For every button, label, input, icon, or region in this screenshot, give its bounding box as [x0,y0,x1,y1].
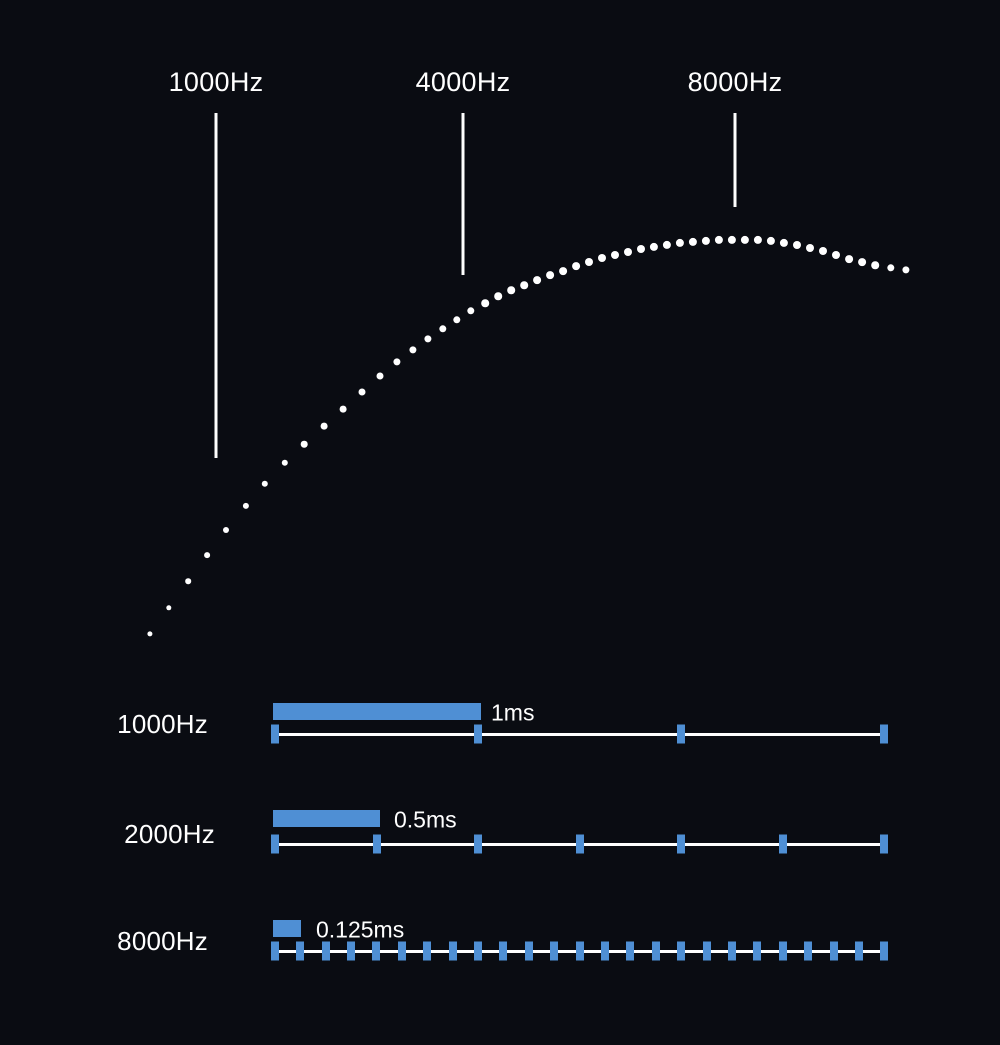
curve-dot [650,243,658,251]
frequency-marker-tick [462,113,465,275]
period-timeline-tick [271,725,279,744]
curve-dot [754,236,762,244]
period-timeline-tick [423,942,431,961]
period-duration-label: 1ms [491,702,534,725]
curve-dot [676,239,684,247]
curve-dot [481,299,489,307]
curve-dot [301,441,308,448]
curve-dot [689,238,697,246]
curve-dot [282,460,288,466]
diagram-canvas: 1000Hz4000Hz8000Hz 1000Hz1ms2000Hz0.5ms8… [0,0,1000,1045]
curve-dot [185,578,191,584]
period-timeline-tick [398,942,406,961]
curve-dot [439,325,446,332]
period-timeline-tick [677,725,685,744]
curve-dot [572,262,580,270]
curve-dot [393,358,400,365]
curve-dot [467,307,474,314]
period-timeline-tick [296,942,304,961]
curve-dot [728,236,736,244]
period-timeline-tick [373,835,381,854]
period-timeline-tick [474,725,482,744]
period-timeline-tick [880,725,888,744]
frequency-marker-label: 4000Hz [416,69,511,96]
period-timeline-tick [550,942,558,961]
period-timeline-tick [677,942,685,961]
period-timeline-tick [728,942,736,961]
curve-dot [585,258,593,266]
period-timeline-tick [601,942,609,961]
period-timeline-tick [474,942,482,961]
period-timeline-tick [576,835,584,854]
period-timeline-tick [576,942,584,961]
curve-dot [262,481,268,487]
curve-dot [340,406,347,413]
period-timeline-tick [703,942,711,961]
curve-dot [871,261,879,269]
curve-dot [424,335,431,342]
period-timeline-tick [804,942,812,961]
curve-dot [507,286,515,294]
period-timeline-tick [830,942,838,961]
curve-dot [559,267,567,275]
period-timeline-tick [652,942,660,961]
curve-dot [806,244,814,252]
period-duration-bar [273,920,301,937]
curve-dot [637,245,645,253]
curve-dot [793,241,801,249]
frequency-marker-tick [215,113,218,458]
curve-dot [321,423,328,430]
curve-dot [845,255,853,263]
curve-dot [223,527,229,533]
curve-dot [166,605,171,610]
period-timeline-tick [677,835,685,854]
period-timeline-tick [271,942,279,961]
period-timeline-tick [880,942,888,961]
curve-dot [741,236,749,244]
frequency-marker-label: 8000Hz [688,69,783,96]
curve-dot [409,346,416,353]
curve-dot [147,631,152,636]
period-timeline-tick [753,942,761,961]
period-row-frequency-label: 2000Hz [124,821,215,847]
period-timeline-tick [449,942,457,961]
frequency-marker-label: 1000Hz [169,69,264,96]
curve-dot [767,237,775,245]
curve-dot [887,264,894,271]
curve-dot [902,266,909,273]
curve-dot [780,239,788,247]
period-timeline-tick [474,835,482,854]
curve-dot [546,271,554,279]
curve-dot [520,281,528,289]
curve-dot [624,248,632,256]
period-timeline-tick [855,942,863,961]
curve-dot [359,389,366,396]
period-duration-label: 0.5ms [394,809,457,832]
period-timeline-tick [499,942,507,961]
period-row-frequency-label: 8000Hz [117,928,208,954]
curve-dot [243,503,249,509]
period-timeline-tick [525,942,533,961]
curve-dot [453,316,460,323]
curve-dot [377,373,384,380]
period-timeline-tick [779,942,787,961]
curve-dot [858,258,866,266]
curve-dot [494,292,502,300]
period-duration-bar [273,810,380,827]
period-timeline-tick [322,942,330,961]
period-timeline-tick [779,835,787,854]
period-timeline-tick [271,835,279,854]
curve-dot [819,247,827,255]
period-duration-bar [273,703,481,720]
period-duration-label: 0.125ms [316,919,404,942]
curve-dot [663,241,671,249]
curve-dot [832,251,840,259]
curve-dot [204,552,210,558]
period-row-frequency-label: 1000Hz [117,711,208,737]
curve-dot [611,251,619,259]
period-timeline-tick [880,835,888,854]
curve-dot [715,236,723,244]
curve-dot [598,254,606,262]
period-timeline-tick [372,942,380,961]
curve-dot [702,237,710,245]
curve-dot [533,276,541,284]
frequency-marker-tick [734,113,737,207]
period-timeline-axis [275,733,884,736]
period-timeline-tick [626,942,634,961]
period-timeline-tick [347,942,355,961]
